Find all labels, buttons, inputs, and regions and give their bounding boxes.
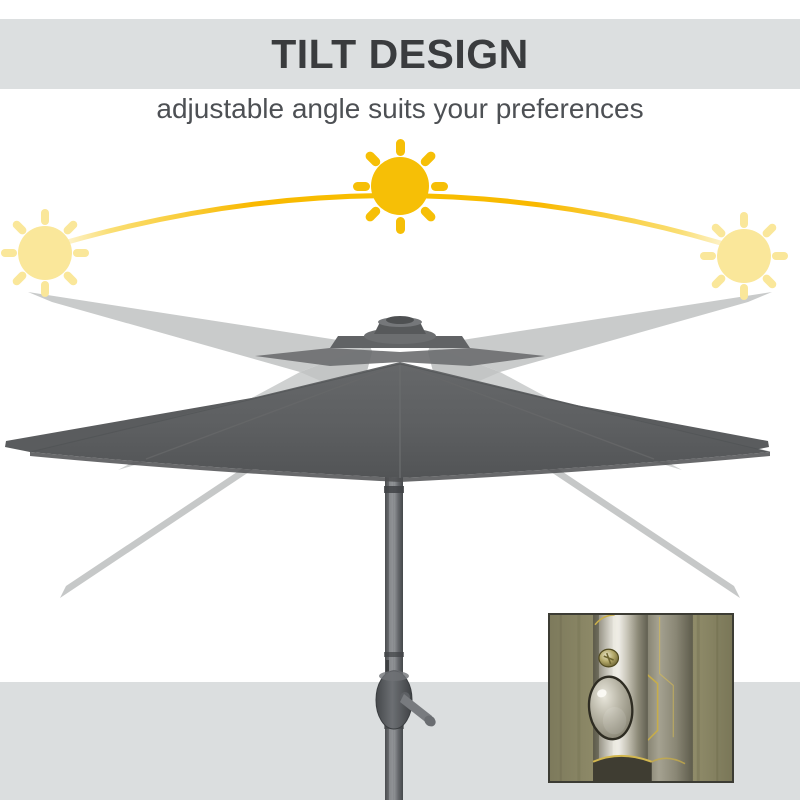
inset-photo [550, 615, 732, 781]
sun-right-ray [740, 212, 748, 228]
sun-right-ray [700, 252, 716, 260]
umbrella-pole [384, 430, 404, 800]
product-feature-image: TILT DESIGN adjustable angle suits your … [0, 0, 800, 800]
sun-left-ray [41, 209, 49, 225]
sun-center-ray [396, 217, 405, 234]
sun-right-ray [772, 252, 788, 260]
sun-center-ray [396, 139, 405, 156]
sun-left-ray [73, 249, 89, 257]
sun-center-ray [431, 182, 448, 191]
crank-handle[interactable] [376, 671, 438, 729]
tilt-mechanism-inset [548, 613, 734, 783]
umbrella-canopy [5, 348, 770, 482]
sun-left-ray [1, 249, 17, 257]
sun-right-ray [740, 284, 748, 300]
canopy-finial [330, 316, 470, 348]
sun-left-ray [41, 281, 49, 297]
sun-center-disc [371, 157, 429, 215]
sun-center-ray [353, 182, 370, 191]
